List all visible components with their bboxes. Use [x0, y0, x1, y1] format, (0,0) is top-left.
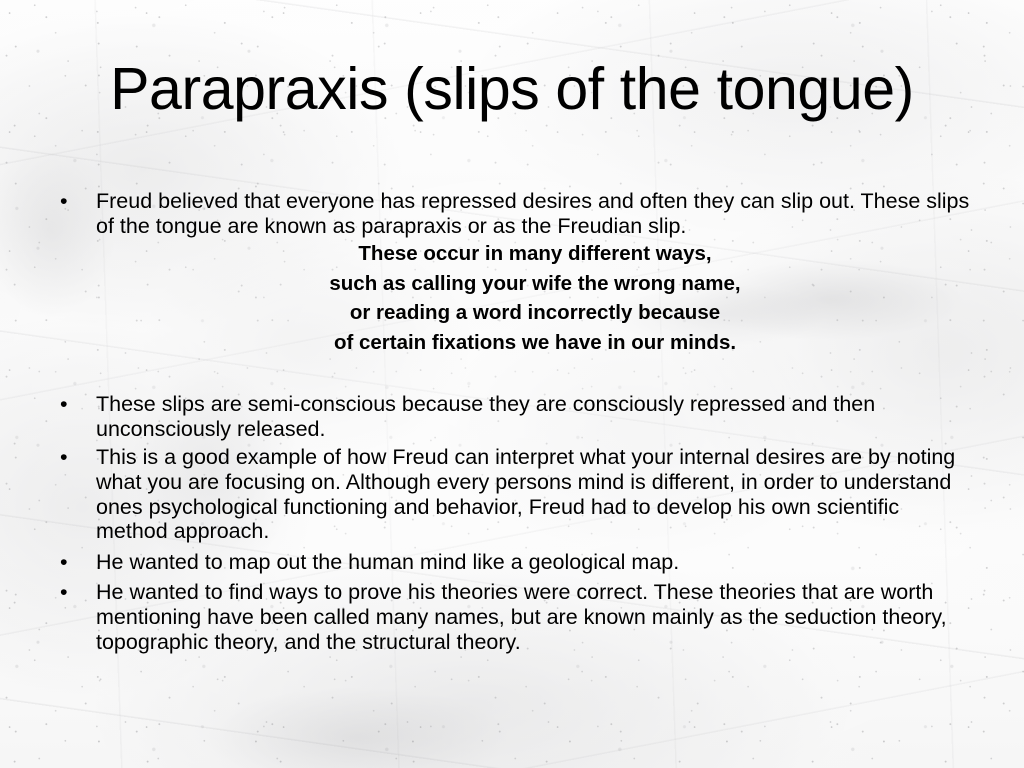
- bullet-text: Freud believed that everyone has repress…: [96, 189, 974, 238]
- stanza-line-1: These occur in many different ways,: [96, 239, 974, 269]
- slide-body: • Freud believed that everyone has repre…: [58, 189, 974, 654]
- bullet-item-geological-map: • He wanted to map out the human mind li…: [58, 550, 974, 575]
- bullet-text: He wanted to find ways to prove his theo…: [96, 580, 974, 654]
- bullet-item-freud-believed: • Freud believed that everyone has repre…: [58, 189, 974, 238]
- stanza-line-3: or reading a word incorrectly because: [96, 298, 974, 328]
- bullet-text: This is a good example of how Freud can …: [96, 445, 974, 543]
- stanza-spacer: [58, 357, 974, 392]
- bullet-marker-icon: •: [60, 445, 68, 470]
- stanza-line-4: of certain fixations we have in our mind…: [96, 328, 974, 358]
- slide-title: Parapraxis (slips of the tongue): [0, 58, 1024, 122]
- bullet-marker-icon: •: [60, 392, 68, 417]
- presentation-slide: Parapraxis (slips of the tongue) • Freud…: [0, 0, 1024, 768]
- bullet-item-prove-theories: • He wanted to find ways to prove his th…: [58, 580, 974, 654]
- stanza-line-2: such as calling your wife the wrong name…: [96, 269, 974, 299]
- bullet-list: • Freud believed that everyone has repre…: [58, 189, 974, 654]
- centered-bold-stanza: These occur in many different ways, such…: [58, 239, 974, 357]
- bullet-item-good-example: • This is a good example of how Freud ca…: [58, 445, 974, 543]
- bullet-marker-icon: •: [60, 189, 68, 214]
- slide-content: Parapraxis (slips of the tongue) • Freud…: [0, 0, 1024, 768]
- bullet-item-semi-conscious: • These slips are semi-conscious because…: [58, 392, 974, 441]
- bullet-text: He wanted to map out the human mind like…: [96, 550, 974, 575]
- bullet-text: These slips are semi-conscious because t…: [96, 392, 974, 441]
- bullet-marker-icon: •: [60, 580, 68, 605]
- bullet-marker-icon: •: [60, 550, 68, 575]
